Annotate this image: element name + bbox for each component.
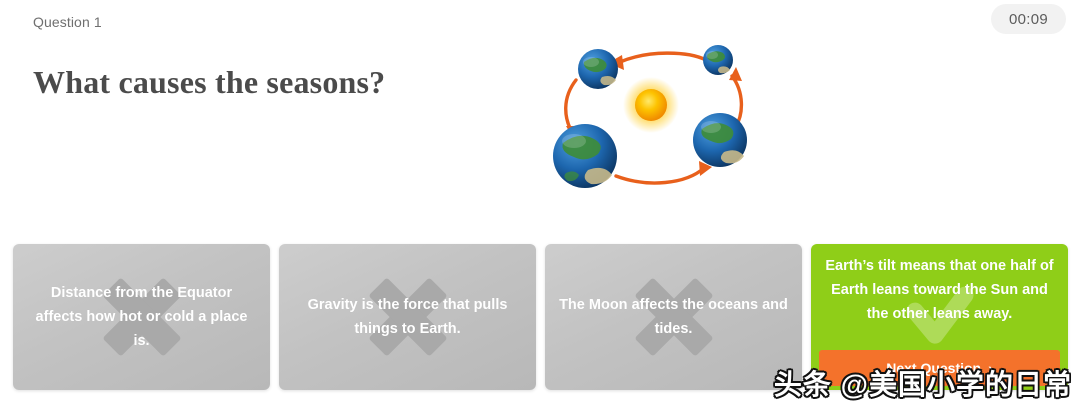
question-title: What causes the seasons?	[33, 64, 385, 101]
answer-option-c[interactable]: The Moon affects the oceans and tides.	[545, 244, 802, 390]
timer-value: 00:09	[1009, 11, 1048, 28]
answer-option-a-text: Distance from the Equator affects how ho…	[13, 281, 270, 353]
next-question-label: Next Question	[886, 360, 981, 376]
answer-option-d-text: Earth’s tilt means that one half of Eart…	[811, 244, 1068, 326]
answer-options-row: Distance from the Equator affects how ho…	[13, 244, 1068, 390]
answer-option-b[interactable]: Gravity is the force that pulls things t…	[279, 244, 536, 390]
answer-option-d-correct[interactable]: Earth’s tilt means that one half of Eart…	[811, 244, 1068, 390]
question-number-label: Question 1	[33, 14, 102, 30]
quiz-screen: Question 1 00:09 What causes the seasons…	[0, 0, 1080, 405]
earth-orbit-sun-illustration	[536, 36, 766, 204]
answer-option-c-text: The Moon affects the oceans and tides.	[545, 293, 802, 341]
answer-option-a[interactable]: Distance from the Equator affects how ho…	[13, 244, 270, 390]
timer-badge: 00:09	[991, 4, 1066, 34]
next-question-button[interactable]: Next Question ›	[819, 350, 1060, 386]
chevron-right-icon: ›	[988, 361, 993, 375]
answer-option-b-text: Gravity is the force that pulls things t…	[279, 293, 536, 341]
